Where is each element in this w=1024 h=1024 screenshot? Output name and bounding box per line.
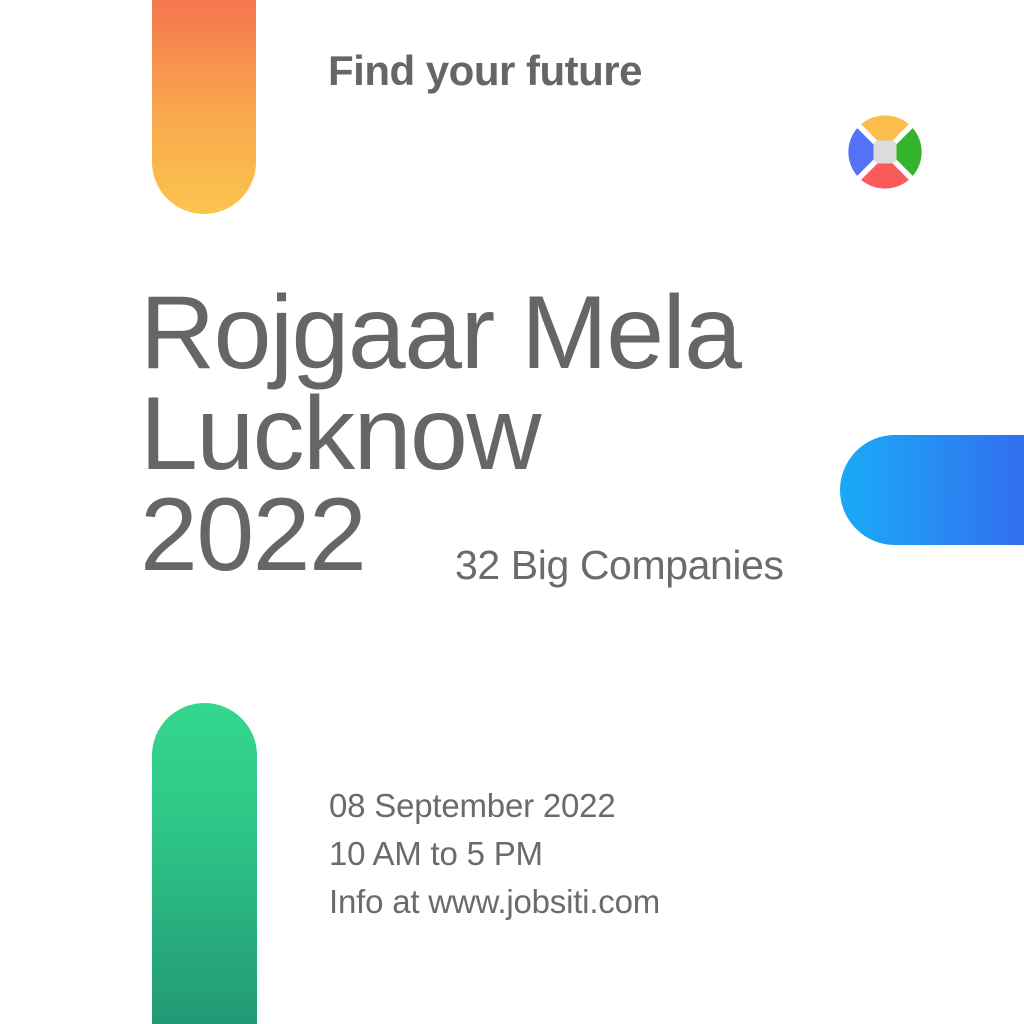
event-time: 10 AM to 5 PM <box>329 830 660 878</box>
event-website: Info at www.jobsiti.com <box>329 878 660 926</box>
page-title: Rojgaar Mela Lucknow 2022 <box>140 283 741 586</box>
tagline: Find your future <box>328 47 642 95</box>
blue-pill-shape <box>840 435 1024 545</box>
orange-pill-shape <box>152 0 256 214</box>
subtitle-companies-count: 32 Big Companies <box>455 542 784 589</box>
logo-center-square <box>874 141 897 164</box>
event-date: 08 September 2022 <box>329 782 660 830</box>
green-pill-shape <box>152 703 257 1024</box>
poster-canvas: Find your future Rojgaar Mela Lucknow <box>0 0 1024 1024</box>
page-title-line-1: Rojgaar Mela <box>140 283 741 384</box>
page-title-line-2: Lucknow <box>140 384 741 485</box>
four-segment-circle-logo-icon <box>845 112 925 192</box>
event-details: 08 September 2022 10 AM to 5 PM Info at … <box>329 782 660 926</box>
